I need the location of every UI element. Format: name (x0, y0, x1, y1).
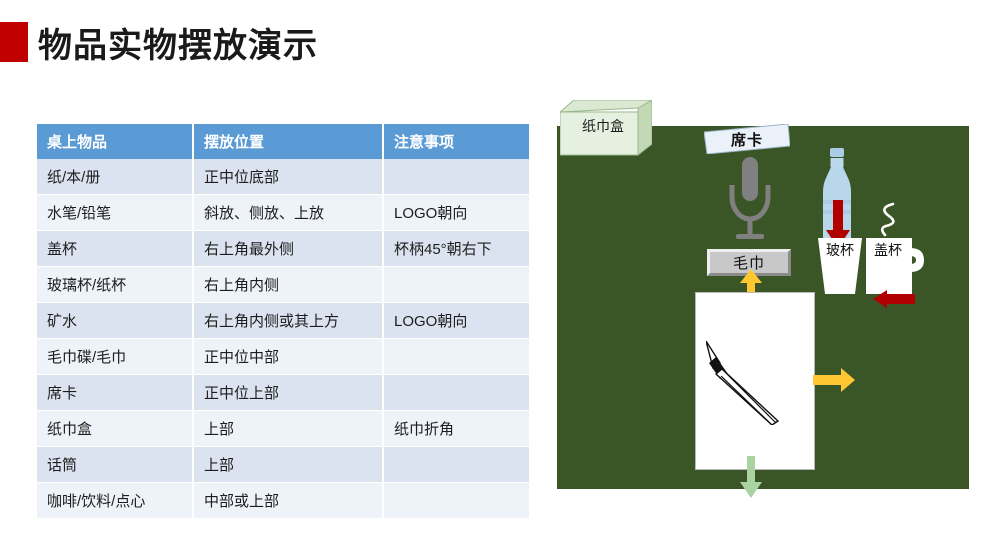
column-header-position: 摆放位置 (193, 124, 383, 159)
cell-notes (383, 375, 529, 411)
glass-cup-object: 玻杯 (818, 238, 862, 294)
arrow-down-green-icon (740, 456, 762, 498)
tissue-box-label: 纸巾盒 (568, 116, 638, 136)
cell-item: 席卡 (37, 375, 193, 411)
cell-position: 正中位底部 (193, 159, 383, 195)
cell-item: 毛巾碟/毛巾 (37, 339, 193, 375)
lidded-cup-label: 盖杯 (866, 242, 910, 259)
table-setting-diagram: 纸巾盒 席卡 玻杯 (548, 96, 978, 496)
cell-position: 右上角内侧 (193, 267, 383, 303)
cell-position: 上部 (193, 411, 383, 447)
cell-position: 中部或上部 (193, 483, 383, 519)
title-accent-marker (0, 22, 28, 62)
table-row: 纸巾盒 上部 纸巾折角 (37, 411, 529, 447)
cell-position: 正中位上部 (193, 375, 383, 411)
cell-position: 右上角最外侧 (193, 231, 383, 267)
cell-notes: LOGO朝向 (383, 303, 529, 339)
table-row: 咖啡/饮料/点心 中部或上部 (37, 483, 529, 519)
microphone-object (720, 155, 780, 245)
cell-notes (383, 159, 529, 195)
table-row: 水笔/铅笔 斜放、侧放、上放 LOGO朝向 (37, 195, 529, 231)
page-title-text: 物品实物摆放演示 (38, 18, 318, 67)
placement-table: 桌上物品 摆放位置 注意事项 纸/本/册 正中位底部 水笔/铅笔 斜放、侧放、上… (37, 124, 529, 519)
cell-notes: 杯柄45°朝右下 (383, 231, 529, 267)
place-card-label: 席卡 (704, 129, 790, 150)
pen-icon (706, 341, 784, 425)
cell-item: 盖杯 (37, 231, 193, 267)
cell-notes: LOGO朝向 (383, 195, 529, 231)
cell-notes (383, 483, 529, 519)
table-header-row: 桌上物品 摆放位置 注意事项 (37, 124, 529, 159)
cell-item: 咖啡/饮料/点心 (37, 483, 193, 519)
tissue-box-object: 纸巾盒 (560, 100, 652, 157)
cell-notes (383, 339, 529, 375)
page-title: 物品实物摆放演示 (0, 18, 318, 66)
column-header-item: 桌上物品 (37, 124, 193, 159)
cell-item: 纸巾盒 (37, 411, 193, 447)
arrow-right-yellow-icon (813, 368, 855, 392)
table-row: 玻璃杯/纸杯 右上角内侧 (37, 267, 529, 303)
microphone-icon (720, 155, 780, 245)
cell-position: 上部 (193, 447, 383, 483)
cell-position: 正中位中部 (193, 339, 383, 375)
table-row: 盖杯 右上角最外侧 杯柄45°朝右下 (37, 231, 529, 267)
cell-item: 水笔/铅笔 (37, 195, 193, 231)
cell-item: 纸/本/册 (37, 159, 193, 195)
glass-cup-label: 玻杯 (818, 242, 862, 259)
cell-notes (383, 267, 529, 303)
arrow-left-red-icon (873, 290, 915, 308)
table-row: 纸/本/册 正中位底部 (37, 159, 529, 195)
column-header-notes: 注意事项 (383, 124, 529, 159)
lidded-cup-object: 盖杯 (866, 236, 926, 296)
cell-position: 右上角内侧或其上方 (193, 303, 383, 339)
glass-cup-label-text: 玻杯 (826, 242, 854, 258)
cell-notes (383, 447, 529, 483)
table-row: 席卡 正中位上部 (37, 375, 529, 411)
cell-item: 玻璃杯/纸杯 (37, 267, 193, 303)
cell-notes: 纸巾折角 (383, 411, 529, 447)
lidded-cup-label-text: 盖杯 (874, 242, 902, 258)
table-row: 矿水 右上角内侧或其上方 LOGO朝向 (37, 303, 529, 339)
cell-item: 矿水 (37, 303, 193, 339)
steam-icon (873, 202, 901, 238)
table-row: 毛巾碟/毛巾 正中位中部 (37, 339, 529, 375)
cell-item: 话筒 (37, 447, 193, 483)
cell-position: 斜放、侧放、上放 (193, 195, 383, 231)
table-row: 话筒 上部 (37, 447, 529, 483)
place-card-object: 席卡 (704, 124, 790, 154)
